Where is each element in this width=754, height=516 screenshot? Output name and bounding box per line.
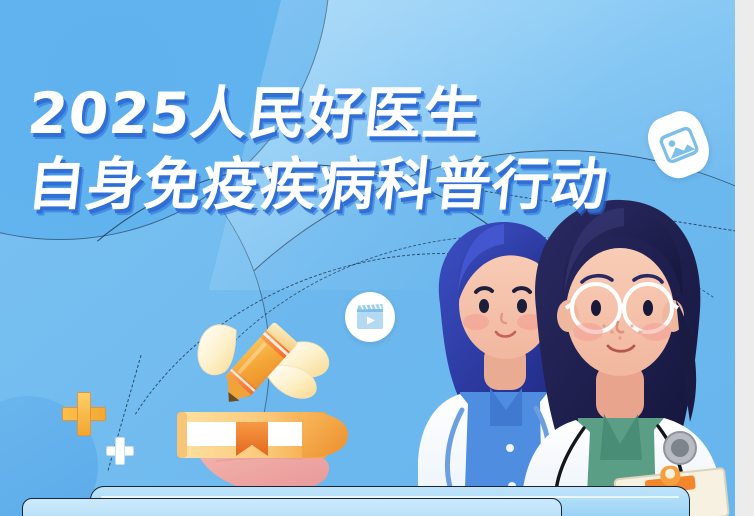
plus-white-icon: [106, 437, 134, 465]
bottom-platform-inner: [22, 498, 562, 516]
title-line-1: 2025人民好医生: [25, 84, 611, 144]
video-play-icon[interactable]: [345, 292, 395, 342]
banner-title: 2025人民好医生 自身免疫疾病科普行动: [28, 84, 608, 216]
plus-orange-icon: [62, 392, 106, 436]
campaign-banner: 2025人民好医生 自身免疫疾病科普行动: [0, 0, 735, 516]
doctor-glasses: [522, 200, 729, 516]
right-edge-strip: [735, 0, 754, 516]
winged-pencil-icon: [176, 312, 336, 427]
title-line-2: 自身免疫疾病科普行动: [25, 154, 612, 216]
doctors-illustration: [418, 196, 735, 516]
